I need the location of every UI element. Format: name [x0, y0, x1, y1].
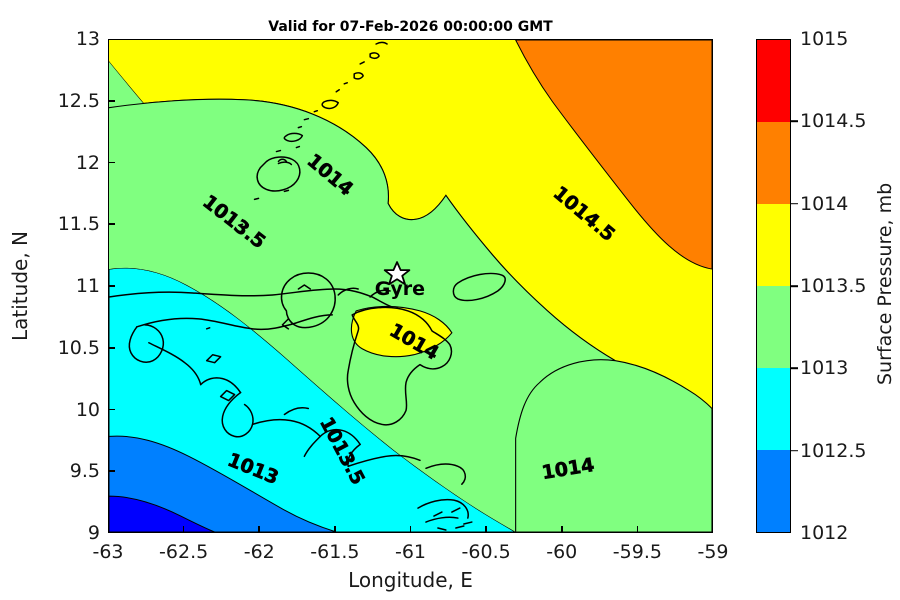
- y-tick-label: 12: [34, 152, 100, 174]
- x-tick-label: -59.5: [613, 541, 662, 563]
- y-tick-mark: [108, 409, 115, 411]
- colorbar-tick-label: 1014: [800, 193, 848, 215]
- colorbar-tick-mark: [791, 285, 798, 287]
- colorbar-segment: [757, 204, 790, 286]
- y-tick-mark: [108, 470, 115, 472]
- page-title: Valid for 07-Feb-2026 00:00:00 GMT: [108, 19, 713, 35]
- x-tick-mark: [410, 526, 412, 533]
- gyre-label: Gyre: [375, 278, 425, 300]
- x-tick-mark: [183, 526, 185, 533]
- colorbar-title: Surface Pressure, mb: [874, 185, 896, 385]
- x-tick-label: -62: [244, 541, 275, 563]
- colorbar-segment: [757, 40, 790, 122]
- colorbar[interactable]: [756, 39, 791, 533]
- x-tick-mark: [561, 526, 563, 533]
- colorbar-tick-label: 1015: [800, 28, 848, 50]
- y-tick-mark: [108, 223, 115, 225]
- y-tick-label: 10: [34, 399, 100, 421]
- figure-root: Valid for 07-Feb-2026 00:00:00 GMT: [0, 0, 900, 600]
- y-tick-mark: [108, 162, 115, 164]
- x-tick-label: -62.5: [159, 541, 208, 563]
- x-tick-label: -63: [92, 541, 123, 563]
- colorbar-tick-label: 1013: [800, 357, 848, 379]
- colorbar-segment: [757, 122, 790, 204]
- y-tick-label: 11: [34, 275, 100, 297]
- x-tick-label: -60.5: [462, 541, 511, 563]
- colorbar-tick-label: 1014.5: [800, 110, 866, 132]
- x-tick-label: -61: [395, 541, 426, 563]
- colorbar-tick-mark: [791, 368, 798, 370]
- y-tick-label: 12.5: [34, 90, 100, 112]
- y-tick-mark: [108, 100, 115, 102]
- x-tick-mark: [258, 526, 260, 533]
- colorbar-segment: [757, 368, 790, 450]
- x-tick-label: -60: [546, 541, 577, 563]
- x-tick-label: -59: [697, 541, 728, 563]
- x-tick-mark: [637, 526, 639, 533]
- x-tick-mark: [334, 526, 336, 533]
- colorbar-tick-label: 1012: [800, 522, 848, 544]
- colorbar-tick-mark: [791, 450, 798, 452]
- y-axis-title: Latitude, N: [8, 206, 32, 366]
- y-tick-label: 10.5: [34, 337, 100, 359]
- y-tick-label: 9: [34, 522, 100, 544]
- y-tick-label: 13: [34, 28, 100, 50]
- colorbar-tick-label: 1013.5: [800, 275, 866, 297]
- colorbar-segment: [757, 450, 790, 532]
- y-tick-label: 9.5: [34, 460, 100, 482]
- colorbar-tick-mark: [791, 121, 798, 123]
- x-axis-title: Longitude, E: [108, 568, 713, 592]
- x-tick-label: -61.5: [310, 541, 359, 563]
- y-tick-mark: [108, 285, 115, 287]
- x-tick-mark: [485, 526, 487, 533]
- colorbar-tick-label: 1012.5: [800, 440, 866, 462]
- y-tick-mark: [108, 347, 115, 349]
- colorbar-tick-mark: [791, 203, 798, 205]
- colorbar-segment: [757, 286, 790, 368]
- y-tick-label: 11.5: [34, 213, 100, 235]
